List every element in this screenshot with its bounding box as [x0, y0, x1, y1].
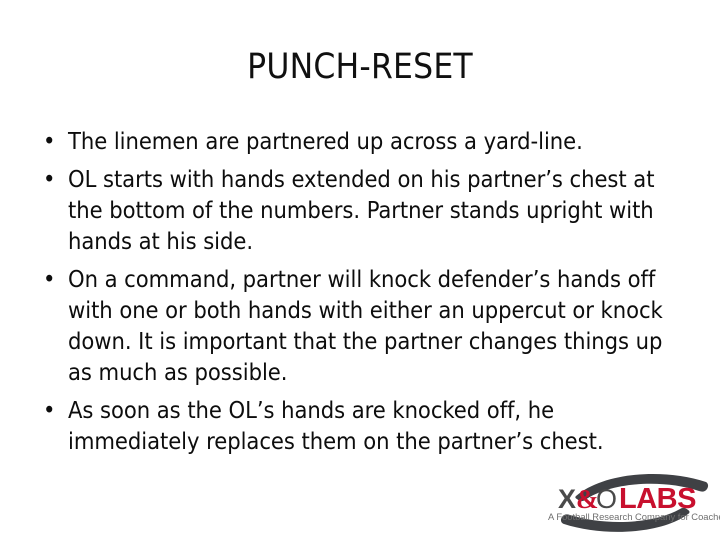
list-item-text: OL starts with hands extended on his par…	[68, 164, 678, 257]
bullet-point-icon: •	[43, 264, 55, 295]
list-item: • As soon as the OL’s hands are knocked …	[38, 395, 678, 457]
bullet-point-icon: •	[43, 395, 55, 426]
bullet-point-icon: •	[43, 126, 55, 157]
list-item-text: The linemen are partnered up across a ya…	[68, 126, 678, 157]
list-item: • OL starts with hands extended on his p…	[38, 164, 678, 257]
logo-tagline: A Football Research Company for Coaches	[548, 511, 720, 522]
bullet-point-icon: •	[43, 164, 55, 195]
logo-word-x: X	[558, 484, 576, 514]
list-item-text: On a command, partner will knock defende…	[68, 264, 678, 388]
slide-canvas: PUNCH-RESET • The linemen are partnered …	[0, 0, 720, 540]
xo-labs-logo-graphic: X & O LABS A Football Research Company f…	[546, 466, 720, 538]
bullet-list: • The linemen are partnered up across a …	[38, 126, 678, 457]
list-item: • The linemen are partnered up across a …	[38, 126, 678, 157]
page-title: PUNCH-RESET	[0, 46, 720, 88]
logo-word-o: O	[596, 484, 617, 514]
xo-labs-logo: X & O LABS A Football Research Company f…	[546, 466, 720, 538]
list-item-text: As soon as the OL’s hands are knocked of…	[68, 395, 678, 457]
list-item: • On a command, partner will knock defen…	[38, 264, 678, 388]
